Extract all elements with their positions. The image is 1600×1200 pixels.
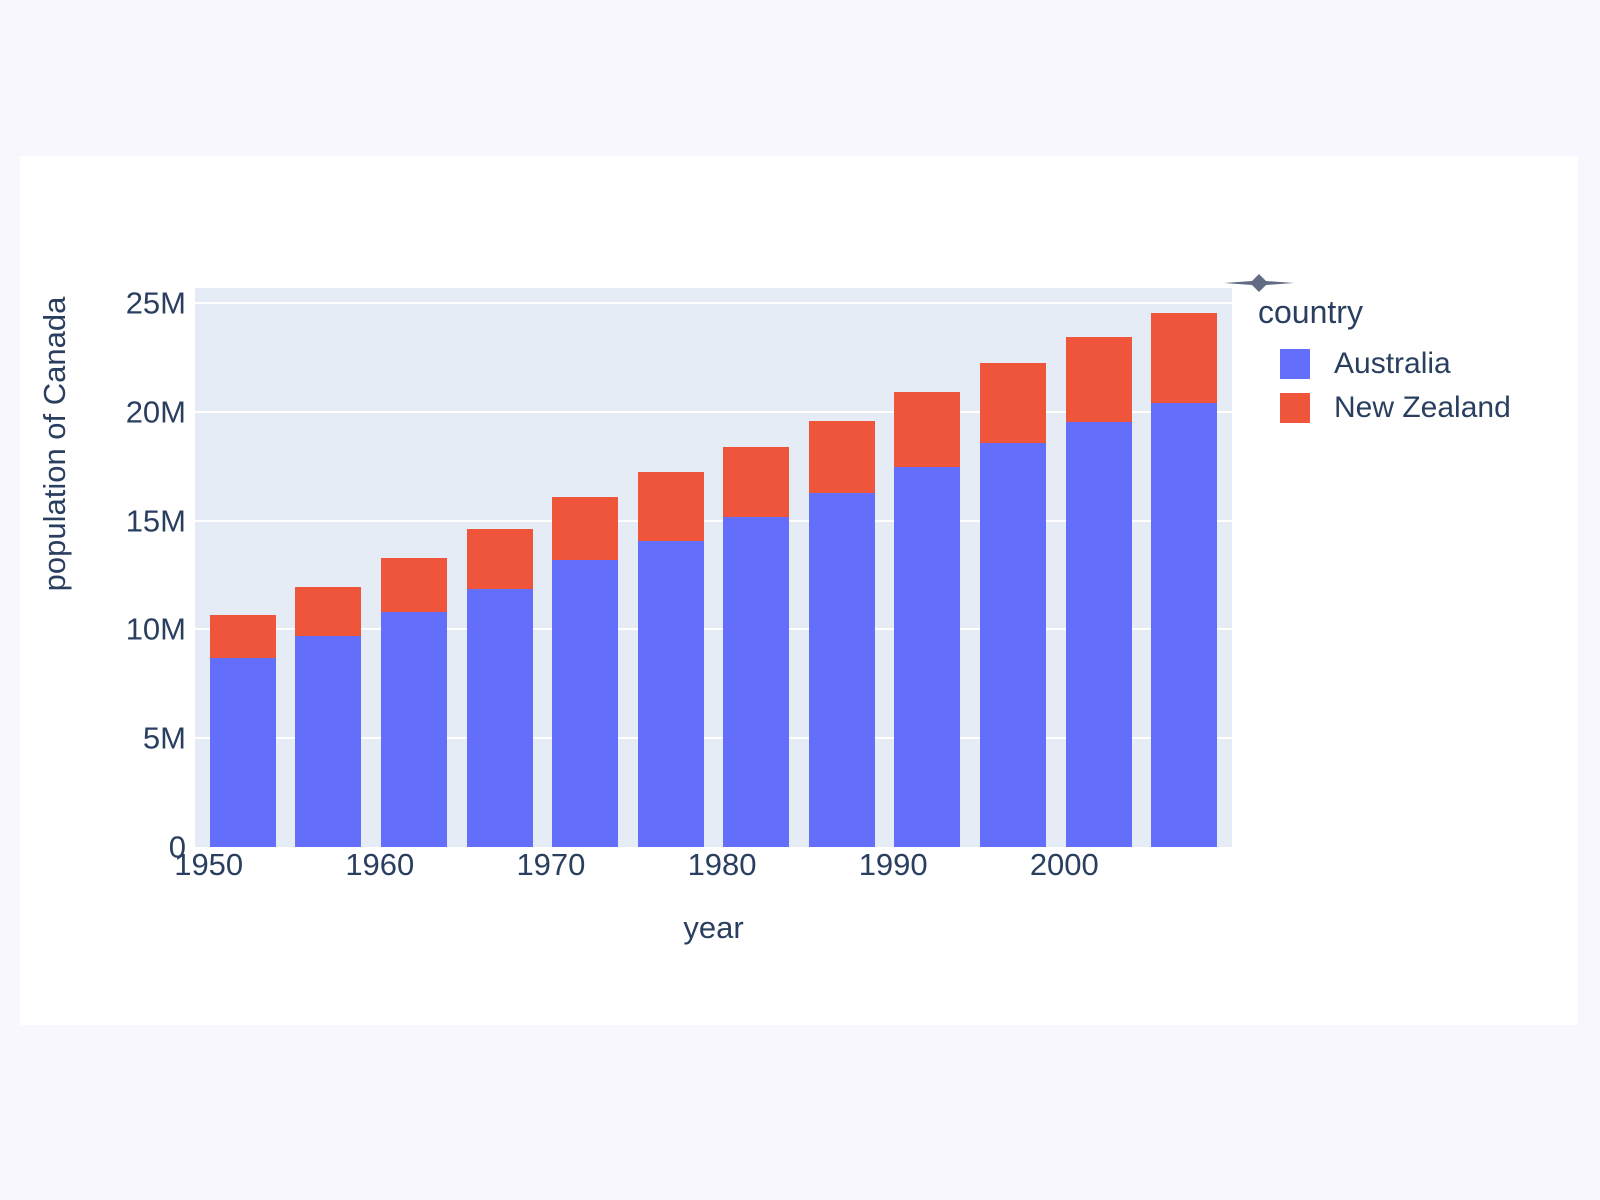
bar-group[interactable] [552, 288, 618, 847]
bar-group[interactable] [467, 288, 533, 847]
bar-segment-new-zealand[interactable] [809, 421, 875, 493]
bar-group[interactable] [1151, 288, 1217, 847]
x-axis-ticks: 195019601970198019902000 [195, 849, 1232, 899]
bar-segment-australia[interactable] [552, 560, 618, 847]
bar-segment-australia[interactable] [638, 541, 704, 847]
x-tick-label: 1990 [859, 849, 928, 882]
x-tick-label: 1960 [345, 849, 414, 882]
bar-segment-australia[interactable] [809, 493, 875, 847]
bar-group[interactable] [894, 288, 960, 847]
bar-segment-new-zealand[interactable] [1151, 313, 1217, 403]
bar-group[interactable] [295, 288, 361, 847]
bar-segment-new-zealand[interactable] [980, 363, 1046, 443]
y-tick-label: 15M [126, 505, 186, 536]
bar-group[interactable] [980, 288, 1046, 847]
x-axis-title: year [195, 910, 1232, 946]
x-tick-label: 2000 [1030, 849, 1099, 882]
bar-segment-new-zealand[interactable] [552, 497, 618, 561]
x-tick-label: 1980 [688, 849, 757, 882]
legend-item-label: Australia [1334, 349, 1451, 379]
legend-title: country [1258, 296, 1558, 328]
bar-segment-new-zealand[interactable] [638, 472, 704, 541]
legend: country AustraliaNew Zealand [1258, 296, 1558, 430]
bar-segment-australia[interactable] [295, 636, 361, 847]
y-tick-mark [186, 411, 195, 413]
bar-group[interactable] [210, 288, 276, 847]
legend-item[interactable]: New Zealand [1258, 386, 1558, 430]
plotly-figure: 05M10M15M20M25M population of Canada 195… [20, 156, 1578, 1025]
x-tick-label: 1950 [174, 849, 243, 882]
legend-swatch-icon [1280, 393, 1310, 423]
y-tick-mark [186, 520, 195, 522]
bar-segment-new-zealand[interactable] [894, 392, 960, 467]
bar-segment-new-zealand[interactable] [381, 558, 447, 612]
bar-segment-new-zealand[interactable] [723, 447, 789, 517]
bar-segment-new-zealand[interactable] [295, 587, 361, 635]
y-axis-title: population of Canada [37, 274, 73, 614]
cursor-arrow-marker [1224, 274, 1294, 292]
bar-group[interactable] [1066, 288, 1132, 847]
bar-segment-australia[interactable] [1151, 403, 1217, 847]
y-tick-label: 20M [126, 396, 186, 427]
bar-segment-new-zealand[interactable] [467, 529, 533, 588]
x-tick-label: 1970 [516, 849, 585, 882]
bar-segment-australia[interactable] [723, 517, 789, 847]
legend-swatch-icon [1280, 349, 1310, 379]
bar-segment-australia[interactable] [980, 443, 1046, 847]
bar-segment-australia[interactable] [1066, 422, 1132, 847]
y-tick-label: 25M [126, 288, 186, 319]
bar-group[interactable] [809, 288, 875, 847]
plot-area [195, 288, 1232, 847]
y-tick-mark [186, 628, 195, 630]
bar-segment-australia[interactable] [894, 467, 960, 847]
bar-segment-australia[interactable] [467, 589, 533, 847]
legend-items: AustraliaNew Zealand [1258, 342, 1558, 430]
legend-item-label: New Zealand [1334, 393, 1511, 423]
y-tick-mark [186, 737, 195, 739]
y-tick-label: 5M [143, 723, 186, 754]
bar-segment-new-zealand[interactable] [210, 615, 276, 658]
bar-group[interactable] [638, 288, 704, 847]
bar-group[interactable] [381, 288, 447, 847]
bar-segment-new-zealand[interactable] [1066, 337, 1132, 422]
bar-segment-australia[interactable] [210, 658, 276, 847]
y-tick-mark [186, 302, 195, 304]
y-tick-label: 10M [126, 614, 186, 645]
bar-segment-australia[interactable] [381, 612, 447, 847]
legend-item[interactable]: Australia [1258, 342, 1558, 386]
chart-card: 05M10M15M20M25M population of Canada 195… [20, 156, 1578, 1025]
bar-group[interactable] [723, 288, 789, 847]
